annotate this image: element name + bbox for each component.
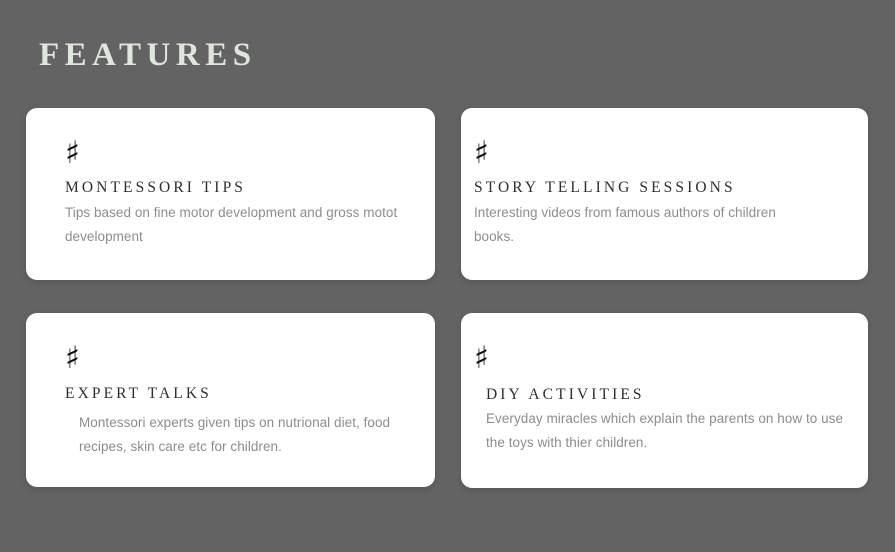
feature-card-title: DIY ACTIVITIES	[486, 386, 645, 405]
feature-card-description: Tips based on fine motor development and…	[65, 201, 420, 249]
hash-sharp-icon: ♯	[474, 343, 489, 374]
feature-card-diy-activities[interactable]: ♯ DIY ACTIVITIES Everyday miracles which…	[461, 313, 868, 488]
feature-card-montessori-tips[interactable]: ♯ MONTESSORI TIPS Tips based on fine mot…	[26, 108, 435, 280]
feature-card-content: ♯ STORY TELLING SESSIONS Interesting vid…	[461, 108, 868, 280]
feature-card-description: Montessori experts given tips on nutrion…	[79, 411, 424, 459]
features-section: FEATURES ♯ MONTESSORI TIPS Tips based on…	[0, 0, 895, 552]
feature-card-content: ♯ MONTESSORI TIPS Tips based on fine mot…	[26, 108, 435, 280]
feature-card-content: ♯ DIY ACTIVITIES Everyday miracles which…	[461, 313, 868, 488]
feature-card-description: Interesting videos from famous authors o…	[474, 201, 804, 249]
feature-card-title: STORY TELLING SESSIONS	[474, 179, 736, 198]
feature-card-content: ♯ EXPERT TALKS Montessori experts given …	[26, 313, 435, 487]
page-title: FEATURES	[39, 36, 257, 76]
feature-card-story-telling-sessions[interactable]: ♯ STORY TELLING SESSIONS Interesting vid…	[461, 108, 868, 280]
hash-sharp-icon: ♯	[474, 138, 489, 169]
feature-card-title: EXPERT TALKS	[65, 385, 212, 404]
hash-sharp-icon: ♯	[65, 343, 80, 374]
feature-card-description: Everyday miracles which explain the pare…	[486, 407, 846, 455]
feature-card-expert-talks[interactable]: ♯ EXPERT TALKS Montessori experts given …	[26, 313, 435, 487]
feature-card-title: MONTESSORI TIPS	[65, 179, 246, 198]
hash-sharp-icon: ♯	[65, 138, 80, 169]
